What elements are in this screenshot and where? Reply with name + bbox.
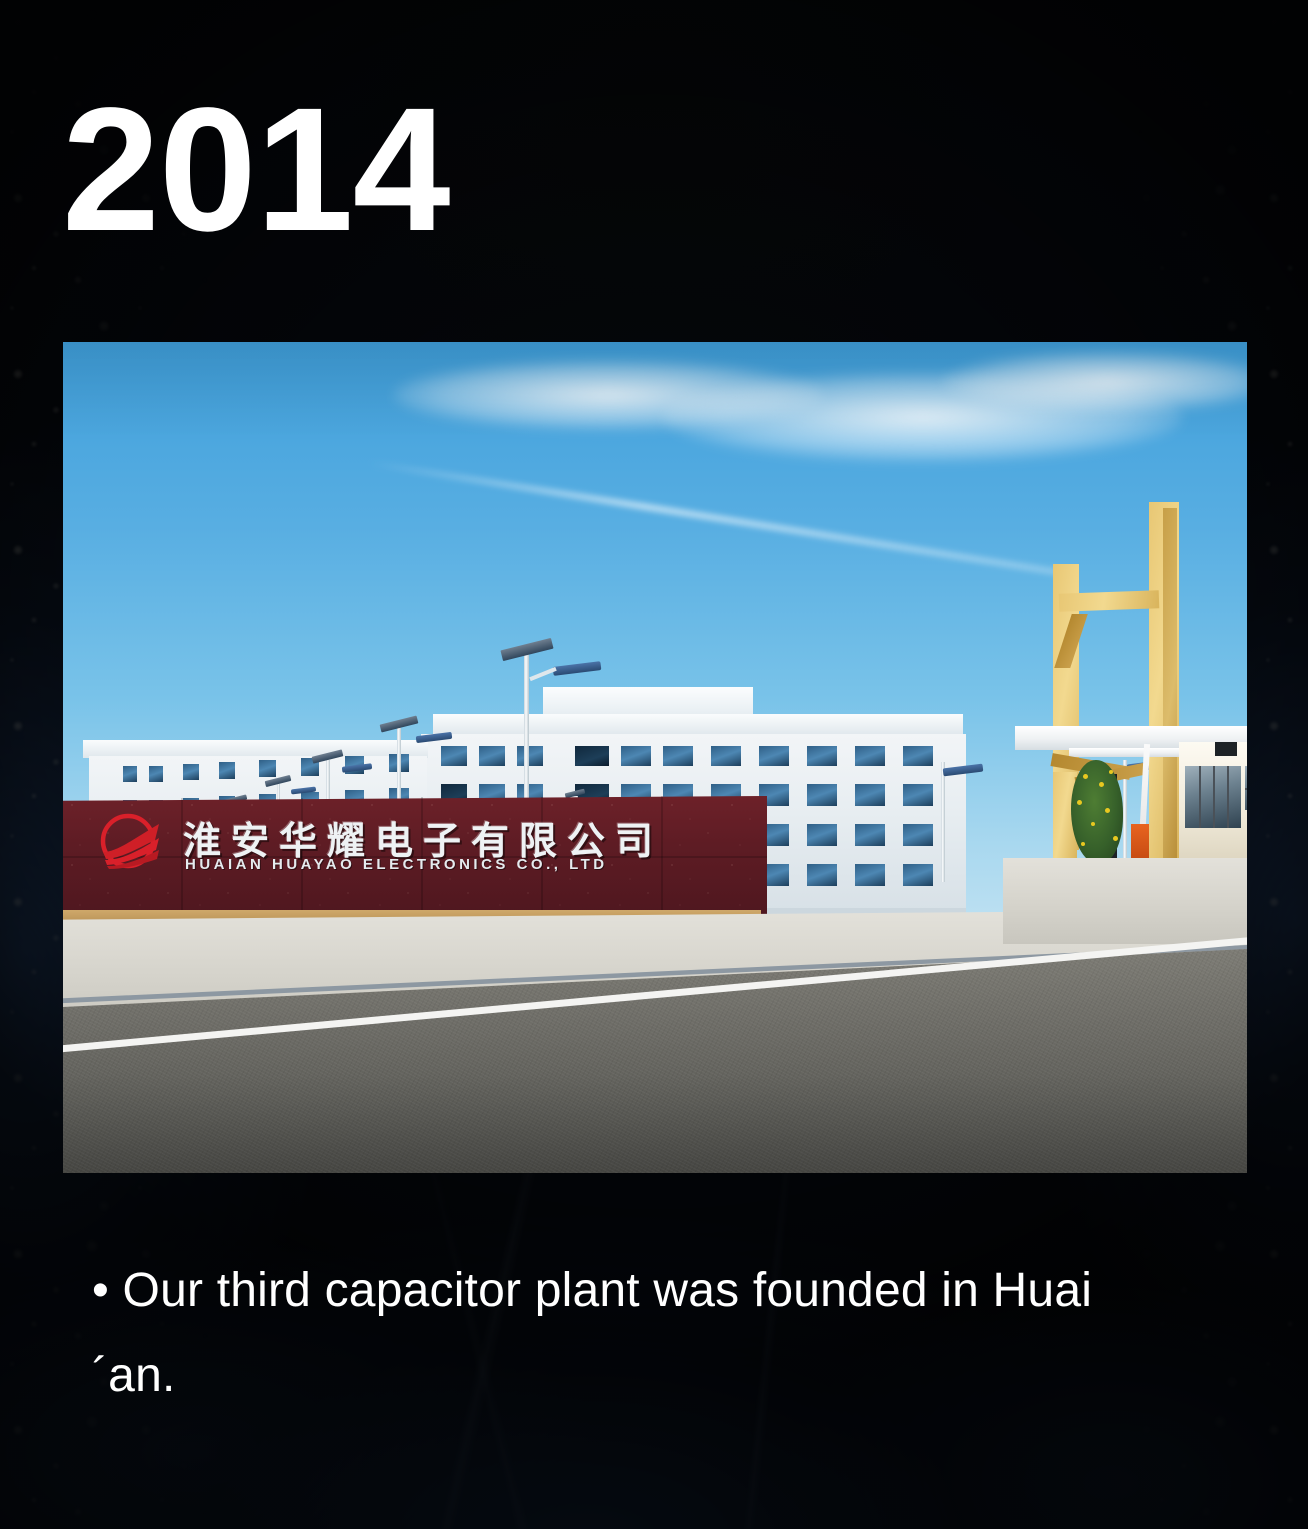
building-window [807,824,837,846]
building-window [149,766,163,782]
year-heading: 2014 [62,82,450,258]
blossom [1091,822,1095,826]
caption-text: • Our third capacitor plant was founded … [92,1248,1172,1419]
building-window [219,762,235,779]
blossom [1077,800,1082,805]
street-lamp-pole [941,762,945,882]
window-mullion [1213,766,1215,828]
building-window [855,864,885,886]
building-window [807,864,837,886]
building-roof [433,714,963,736]
blossom [1113,836,1118,841]
company-logo [97,812,165,874]
slide-root: 2014 [0,0,1308,1529]
factory-photo: 淮安华耀电子有限公司 HUAIAN HUAYAO ELECTRONICS CO.… [63,342,1247,1173]
blossom [1105,808,1110,813]
building-window [807,746,837,766]
building-window [759,746,789,766]
blossom [1099,782,1104,787]
street-lamp-pole [524,654,529,814]
wall-sign-plate [1215,742,1237,756]
building-window [441,746,467,766]
building-window [711,746,741,766]
building-window [903,824,933,846]
building-window [479,746,505,766]
building-window [903,746,933,766]
window-frame [1245,788,1247,790]
building-window [517,746,543,766]
huayao-wave-logo-svg [97,812,165,874]
sign-english-text: HUAIAN HUAYAO ELECTRONICS CO., LTD [185,856,608,873]
building-window [575,746,609,766]
barrier-base-post [1131,824,1149,862]
window-mullion [1227,766,1229,828]
building-window [903,784,933,806]
gatehouse-apron [1003,858,1247,944]
flowering-tree [1071,760,1123,864]
gatehouse-pillar-inner [1163,508,1177,860]
building-window [183,764,199,780]
building-window [123,766,137,782]
window-mullion [1199,766,1201,828]
blossom [1083,774,1088,779]
building-window [855,784,885,806]
building-window [807,784,837,806]
building-window [621,746,651,766]
building-window [855,824,885,846]
blossom [1109,770,1113,774]
building-window [663,746,693,766]
gatehouse-crossbeam [1059,590,1160,611]
building-window [855,746,885,766]
building-window [903,864,933,886]
building-window [259,760,276,777]
blossom [1081,842,1085,846]
